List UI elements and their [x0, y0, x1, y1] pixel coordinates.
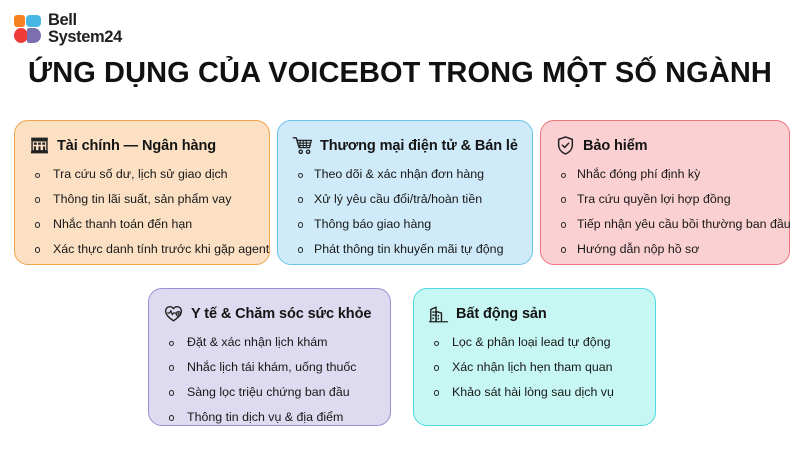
list-item: Nhắc đóng phí định kỳ — [557, 167, 775, 183]
card-insurance-title: Bảo hiểm — [583, 138, 647, 154]
shield-check-icon — [555, 135, 576, 156]
list-item: Theo dõi & xác nhận đơn hàng — [294, 167, 518, 183]
card-ecommerce-bullets: Theo dõi & xác nhận đơn hàng Xử lý yêu c… — [292, 167, 518, 258]
logo-circle-red-icon — [14, 28, 28, 43]
page-title: ỨNG DỤNG CỦA VOICEBOT TRONG MỘT SỐ NGÀNH — [0, 57, 800, 90]
list-item: Sàng lọc triệu chứng ban đầu — [165, 385, 376, 401]
list-item: Đặt & xác nhận lịch khám — [165, 335, 376, 351]
list-item: Thông báo giao hàng — [294, 217, 518, 233]
card-ecommerce: Thương mại điện tử & Bán lẻ Theo dõi & x… — [277, 120, 533, 265]
list-item: Thông tin lãi suất, sản phẩm vay — [31, 192, 255, 208]
list-item: Xác nhận lịch hẹn tham quan — [430, 360, 641, 376]
card-health-title: Y tế & Chăm sóc sức khỏe — [191, 306, 371, 322]
card-health-header: Y tế & Chăm sóc sức khỏe — [163, 303, 376, 324]
logo-square-blue-icon — [26, 15, 41, 27]
list-item: Lọc & phân loại lead tự động — [430, 335, 641, 351]
list-item: Phát thông tin khuyến mãi tự động — [294, 242, 518, 258]
card-insurance: Bảo hiểm Nhắc đóng phí định kỳ Tra cứu q… — [540, 120, 790, 265]
list-item: Hướng dẫn nộp hồ sơ — [557, 242, 775, 258]
buildings-icon — [428, 303, 449, 324]
card-finance-bullets: Tra cứu số dư, lịch sử giao dịch Thông t… — [29, 167, 255, 258]
card-ecommerce-header: Thương mại điện tử & Bán lẻ — [292, 135, 518, 156]
list-item: Nhắc thanh toán đến hạn — [31, 217, 255, 233]
card-realestate: Bất động sản Lọc & phân loại lead tự độn… — [413, 288, 656, 426]
list-item: Nhắc lịch tái khám, uống thuốc — [165, 360, 376, 376]
logo-mark-icon — [14, 15, 41, 43]
card-ecommerce-title: Thương mại điện tử & Bán lẻ — [320, 138, 518, 154]
heart-pulse-icon — [163, 303, 184, 324]
brand-name: Bell System24 — [48, 12, 122, 46]
list-item: Xử lý yêu cầu đổi/trả/hoàn tiền — [294, 192, 518, 208]
card-finance-title: Tài chính — Ngân hàng — [57, 138, 216, 154]
card-realestate-header: Bất động sản — [428, 303, 641, 324]
shopping-cart-icon — [292, 135, 313, 156]
card-finance-header: Tài chính — Ngân hàng — [29, 135, 255, 156]
brand-logo: Bell System24 — [14, 12, 122, 46]
list-item: Khảo sát hài lòng sau dịch vụ — [430, 385, 641, 401]
list-item: Tiếp nhận yêu cầu bồi thường ban đầu — [557, 217, 775, 233]
card-insurance-header: Bảo hiểm — [555, 135, 775, 156]
list-item: Tra cứu quyền lợi hợp đồng — [557, 192, 775, 208]
card-finance: Tài chính — Ngân hàng Tra cứu số dư, lịc… — [14, 120, 270, 265]
list-item: Tra cứu số dư, lịch sử giao dịch — [31, 167, 255, 183]
card-health: Y tế & Chăm sóc sức khỏe Đặt & xác nhận … — [148, 288, 391, 426]
logo-shape-purple-icon — [27, 28, 41, 43]
card-health-bullets: Đặt & xác nhận lịch khám Nhắc lịch tái k… — [163, 335, 376, 426]
card-realestate-title: Bất động sản — [456, 306, 547, 322]
card-realestate-bullets: Lọc & phân loại lead tự động Xác nhận lị… — [428, 335, 641, 401]
brand-name-line2: System24 — [48, 29, 122, 46]
list-item: Thông tin dịch vụ & địa điểm — [165, 410, 376, 426]
list-item: Xác thực danh tính trước khi gặp agent — [31, 242, 255, 258]
bank-icon — [29, 135, 50, 156]
logo-square-orange-icon — [14, 15, 25, 27]
card-insurance-bullets: Nhắc đóng phí định kỳ Tra cứu quyền lợi … — [555, 167, 775, 258]
brand-name-line1: Bell — [48, 12, 122, 29]
